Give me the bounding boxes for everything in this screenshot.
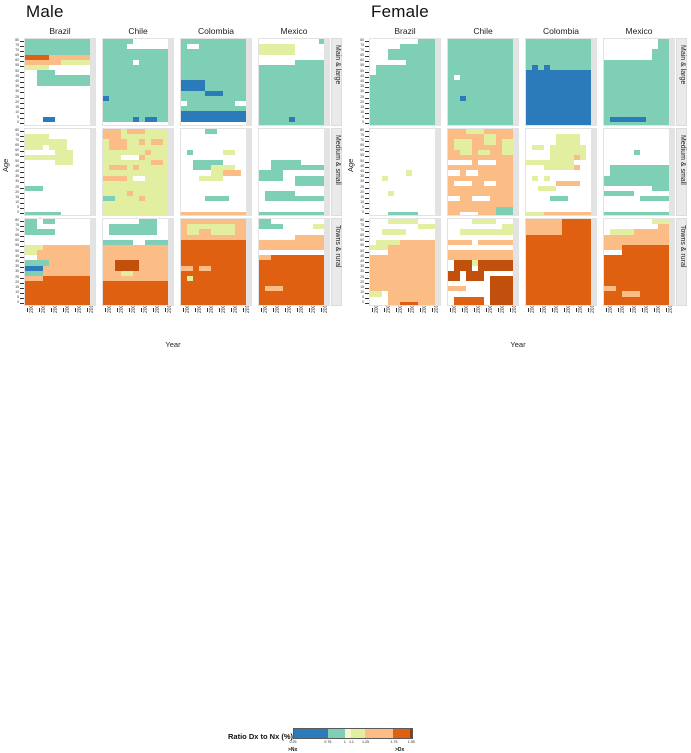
x-tick bbox=[552, 308, 553, 312]
country-heading-mexico: Mexico bbox=[603, 26, 675, 36]
legend-end-low: >Nx bbox=[288, 747, 297, 753]
panel-cells bbox=[25, 129, 95, 215]
heatmap-cell bbox=[532, 145, 544, 150]
heatmap-cell bbox=[484, 134, 496, 144]
heatmap-cell bbox=[466, 129, 484, 134]
heatmap-cell bbox=[460, 212, 478, 216]
heatmap-cell bbox=[382, 229, 406, 234]
heatmap-cell bbox=[526, 65, 532, 70]
heatmap-panel[interactable] bbox=[447, 38, 519, 126]
heatmap-cell bbox=[187, 276, 193, 281]
panel-cells bbox=[259, 219, 329, 305]
country-heading-mexico: Mexico bbox=[258, 26, 330, 36]
heatmap-cell bbox=[181, 122, 247, 126]
panel-gutter bbox=[591, 219, 596, 305]
heatmap-cell bbox=[265, 191, 295, 201]
heatmap-cell bbox=[604, 255, 622, 306]
y-axis-2: 05101520253035404550556065707580 bbox=[347, 218, 369, 306]
x-axis-colombia: 200020022004200620082010 bbox=[525, 308, 591, 330]
y-tick-label: 30 bbox=[360, 270, 364, 273]
heatmap-panel[interactable] bbox=[447, 128, 519, 216]
heatmap-cell bbox=[103, 129, 121, 139]
y-tick-label: 40 bbox=[15, 260, 19, 263]
y-tick-label: 45 bbox=[360, 75, 364, 78]
heatmap-cell bbox=[448, 240, 472, 245]
y-tick-label: 35 bbox=[15, 175, 19, 178]
y-tick-label: 25 bbox=[360, 276, 364, 279]
heatmap-cell bbox=[109, 229, 157, 234]
row-strip-label: Medium & small bbox=[679, 135, 686, 185]
country-heading-brazil: Brazil bbox=[24, 26, 96, 36]
heatmap-panel[interactable] bbox=[525, 218, 597, 306]
x-tick bbox=[183, 308, 184, 312]
heatmap-cell bbox=[25, 219, 37, 235]
row-strip-2: Towns & rural bbox=[676, 218, 687, 306]
x-tick bbox=[165, 308, 166, 312]
y-tick-label: 75 bbox=[360, 134, 364, 137]
heatmap-cell bbox=[472, 219, 496, 224]
y-tick-label: 80 bbox=[15, 39, 19, 42]
heatmap-panel[interactable] bbox=[525, 128, 597, 216]
heatmap-panel[interactable] bbox=[180, 38, 252, 126]
country-headings-male: BrazilChileColombiaMexico bbox=[24, 26, 330, 38]
y-tick-label: 60 bbox=[360, 59, 364, 62]
heatmap-cell bbox=[103, 196, 115, 201]
y-tick-label: 55 bbox=[15, 244, 19, 247]
y-tick-label: 75 bbox=[15, 44, 19, 47]
heatmap-cell bbox=[55, 150, 73, 166]
heatmap-cell bbox=[43, 219, 55, 224]
x-tick bbox=[153, 308, 154, 312]
panel-gutter bbox=[513, 219, 518, 305]
heatmap-cell bbox=[526, 70, 592, 126]
facet-title-male: Male bbox=[26, 2, 64, 22]
y-tick-label: 0 bbox=[17, 211, 19, 214]
heatmap-cell bbox=[610, 165, 670, 175]
y-tick-label: 25 bbox=[360, 96, 364, 99]
y-tick-label: 50 bbox=[15, 160, 19, 163]
heatmap-cell bbox=[370, 75, 436, 126]
x-tick bbox=[243, 308, 244, 312]
heatmap-cell bbox=[139, 155, 145, 160]
heatmap-cell bbox=[133, 176, 145, 181]
x-tick bbox=[450, 308, 451, 312]
heatmap-cell bbox=[139, 219, 157, 229]
y-tick-label: 10 bbox=[360, 111, 364, 114]
y-tick-label: 55 bbox=[360, 154, 364, 157]
panel-cells bbox=[604, 129, 674, 215]
heatmap-cell bbox=[121, 271, 133, 276]
heatmap-cell bbox=[544, 176, 550, 181]
x-tick bbox=[51, 308, 52, 312]
heatmap-cell bbox=[139, 196, 145, 201]
heatmap-panel[interactable] bbox=[258, 218, 330, 306]
heatmap-panel[interactable] bbox=[603, 218, 675, 306]
heatmap-cell bbox=[181, 240, 247, 306]
legend: Ratio Dx to Nx (%) 0.250.7511.11.251.751… bbox=[0, 360, 691, 401]
y-tick-label: 45 bbox=[360, 255, 364, 258]
heatmap-panel[interactable] bbox=[102, 218, 174, 306]
heatmap-panel[interactable] bbox=[369, 128, 441, 216]
heatmap-cell bbox=[532, 65, 538, 70]
panel-gutter bbox=[324, 129, 329, 215]
row-strip-2: Towns & rural bbox=[331, 218, 342, 306]
heatmap-cell bbox=[103, 245, 169, 261]
x-axis-mexico: 200020022004200620082010 bbox=[603, 308, 669, 330]
heatmap-cell bbox=[472, 260, 478, 265]
legend-swatch bbox=[328, 729, 345, 738]
heatmap-cell bbox=[103, 39, 133, 44]
heatmap-cell bbox=[103, 39, 169, 126]
panel-gutter bbox=[669, 129, 674, 215]
heatmap-cell bbox=[622, 245, 670, 306]
heatmap-cell bbox=[151, 160, 163, 165]
y-tick-label: 75 bbox=[15, 224, 19, 227]
heatmap-cell bbox=[448, 39, 514, 126]
row-strip-label: Towns & rural bbox=[679, 225, 686, 267]
heatmap-panel[interactable] bbox=[24, 218, 96, 306]
y-tick-label: 65 bbox=[15, 54, 19, 57]
y-tick-label: 70 bbox=[360, 229, 364, 232]
heatmap-cell bbox=[259, 212, 325, 216]
panel-cells bbox=[448, 129, 518, 215]
heatmap-cell bbox=[49, 139, 67, 149]
panel-cells bbox=[181, 129, 251, 215]
y-tick-label: 10 bbox=[15, 291, 19, 294]
y-tick-label: 55 bbox=[15, 64, 19, 67]
row-strip-label: Towns & rural bbox=[334, 225, 341, 267]
heatmap-cell bbox=[472, 196, 490, 201]
y-tick-label: 15 bbox=[360, 106, 364, 109]
heatmap-panel[interactable] bbox=[369, 38, 441, 126]
heatmap-cell bbox=[133, 60, 139, 65]
heatmap-cell bbox=[103, 271, 169, 281]
heatmap-cell bbox=[460, 150, 472, 155]
heatmap-cell bbox=[205, 91, 223, 96]
heatmap-cell bbox=[526, 235, 592, 306]
y-tick-label: 10 bbox=[15, 201, 19, 204]
x-tick bbox=[474, 308, 475, 312]
heatmap-cell bbox=[556, 181, 580, 186]
x-tick bbox=[462, 308, 463, 312]
heatmap-cell bbox=[25, 212, 61, 216]
heatmap-cell bbox=[454, 260, 472, 270]
y-tick-label: 40 bbox=[15, 170, 19, 173]
heatmap-panel[interactable] bbox=[24, 128, 96, 216]
y-tick-label: 0 bbox=[17, 121, 19, 124]
heatmap-panel[interactable] bbox=[258, 38, 330, 126]
panel-gutter bbox=[324, 219, 329, 305]
heatmap-cell bbox=[610, 117, 646, 122]
y-tick-label: 20 bbox=[15, 281, 19, 284]
heatmap-cell bbox=[193, 91, 205, 96]
heatmap-cell bbox=[604, 176, 670, 186]
country-heading-chile: Chile bbox=[447, 26, 519, 36]
y-tick-label: 0 bbox=[362, 211, 364, 214]
heatmap-cell bbox=[448, 196, 460, 201]
panel-gutter bbox=[513, 39, 518, 125]
y-tick-label: 5 bbox=[17, 116, 19, 119]
heatmap-cell bbox=[103, 260, 115, 270]
y-tick-label: 75 bbox=[15, 134, 19, 137]
panel-gutter bbox=[90, 129, 95, 215]
y-tick-label: 35 bbox=[360, 265, 364, 268]
heatmap-cell bbox=[448, 271, 460, 281]
panel-gutter bbox=[591, 129, 596, 215]
heatmap-cell bbox=[139, 139, 145, 144]
legend-color-bar bbox=[293, 728, 413, 739]
heatmap-panel[interactable] bbox=[24, 38, 96, 126]
heatmap-cell bbox=[448, 170, 460, 175]
x-axis-mexico: 200020022004200620082010 bbox=[258, 308, 324, 330]
heatmap-panel[interactable] bbox=[258, 128, 330, 216]
x-tick bbox=[588, 308, 589, 312]
legend-tick-label: 1.25 bbox=[362, 740, 369, 744]
panel-gutter bbox=[324, 39, 329, 125]
y-tick-label: 70 bbox=[15, 139, 19, 142]
y-tick-label: 75 bbox=[360, 224, 364, 227]
heatmap-cell bbox=[259, 170, 283, 180]
heatmap-cell bbox=[259, 44, 295, 54]
x-tick bbox=[231, 308, 232, 312]
heatmap-cell bbox=[454, 75, 460, 80]
heatmap-cell bbox=[181, 101, 187, 106]
heatmap-cell bbox=[634, 150, 640, 155]
heatmap-cell bbox=[295, 60, 325, 126]
panel-gutter bbox=[246, 219, 251, 305]
heatmap-cell bbox=[484, 181, 496, 186]
y-tick-label: 50 bbox=[15, 70, 19, 73]
y-tick-label: 15 bbox=[15, 106, 19, 109]
x-tick bbox=[486, 308, 487, 312]
heatmap-cell bbox=[295, 176, 325, 186]
heatmap-cell bbox=[133, 165, 139, 170]
y-tick-label: 5 bbox=[17, 296, 19, 299]
x-tick bbox=[384, 308, 385, 312]
panel-cells bbox=[370, 39, 440, 125]
heatmap-cell bbox=[127, 44, 169, 49]
y-tick-label: 35 bbox=[15, 85, 19, 88]
y-tick-label: 55 bbox=[15, 154, 19, 157]
x-tick bbox=[510, 308, 511, 312]
y-tick-label: 80 bbox=[360, 39, 364, 42]
heatmap-panel[interactable] bbox=[102, 38, 174, 126]
heatmap-cell bbox=[526, 160, 544, 165]
facet-group-female: Female Age Year BrazilChileColombiaMexic… bbox=[345, 0, 691, 360]
legend-swatch bbox=[294, 729, 328, 738]
y-tick-label: 65 bbox=[15, 144, 19, 147]
panel-cells bbox=[370, 129, 440, 215]
y-tick-label: 80 bbox=[15, 219, 19, 222]
panel-cells bbox=[526, 39, 596, 125]
legend-end-high: >Dx bbox=[395, 747, 404, 753]
y-tick-label: 45 bbox=[15, 165, 19, 168]
heatmap-cell bbox=[289, 117, 295, 122]
x-tick bbox=[39, 308, 40, 312]
panel-gutter bbox=[669, 39, 674, 125]
heatmap-cell bbox=[103, 281, 169, 306]
x-tick bbox=[432, 308, 433, 312]
legend-tick-label: 0.75 bbox=[324, 740, 331, 744]
heatmap-cell bbox=[187, 224, 235, 234]
y-tick-label: 25 bbox=[15, 96, 19, 99]
heatmap-cell bbox=[376, 65, 436, 75]
heatmap-cell bbox=[301, 165, 325, 170]
x-tick bbox=[219, 308, 220, 312]
heatmap-cell bbox=[271, 160, 301, 170]
legend-tick-label: 0.25 bbox=[290, 740, 297, 744]
x-tick bbox=[528, 308, 529, 312]
y-tick-label: 50 bbox=[15, 250, 19, 253]
heatmap-cell bbox=[25, 145, 43, 150]
heatmap-cell bbox=[448, 160, 472, 165]
y-tick-label: 35 bbox=[360, 85, 364, 88]
y-tick-label: 75 bbox=[360, 44, 364, 47]
heatmap-cell bbox=[187, 150, 193, 155]
heatmap-cell bbox=[388, 49, 436, 59]
heatmap-cell bbox=[181, 80, 205, 90]
heatmap-cell bbox=[460, 96, 466, 101]
y-tick-label: 20 bbox=[360, 191, 364, 194]
panel-gutter bbox=[435, 219, 440, 305]
heatmap-cell bbox=[37, 229, 55, 234]
x-tick bbox=[309, 308, 310, 312]
facet-group-male: Male Age Year BrazilChileColombiaMexico … bbox=[0, 0, 346, 360]
y-tick-label: 15 bbox=[360, 286, 364, 289]
x-tick bbox=[117, 308, 118, 312]
y-axis-0: 05101520253035404550556065707580 bbox=[347, 38, 369, 126]
y-tick-label: 60 bbox=[360, 149, 364, 152]
y-tick-label: 50 bbox=[360, 70, 364, 73]
heatmap-panel[interactable] bbox=[369, 218, 441, 306]
y-tick-label: 10 bbox=[15, 111, 19, 114]
heatmap-cell bbox=[199, 229, 211, 234]
x-tick bbox=[618, 308, 619, 312]
y-tick-label: 80 bbox=[15, 129, 19, 132]
heatmap-panel[interactable] bbox=[603, 38, 675, 126]
heatmap-cell bbox=[544, 160, 574, 170]
y-tick-label: 25 bbox=[15, 186, 19, 189]
heatmap-cell bbox=[205, 196, 229, 201]
heatmap-panel[interactable] bbox=[180, 128, 252, 216]
heatmap-cell bbox=[550, 196, 568, 201]
legend-tick-label: 1.75 bbox=[391, 740, 398, 744]
x-tick bbox=[27, 308, 28, 312]
heatmap-cell bbox=[652, 186, 670, 191]
heatmap-panel[interactable] bbox=[180, 218, 252, 306]
heatmap-cell bbox=[466, 170, 478, 175]
panel-gutter bbox=[90, 39, 95, 125]
y-tick-label: 35 bbox=[360, 175, 364, 178]
x-tick bbox=[63, 308, 64, 312]
y-tick-label: 0 bbox=[362, 121, 364, 124]
legend-swatch bbox=[393, 729, 410, 738]
x-axis-chile: 200020022004200620082010 bbox=[102, 308, 168, 330]
y-tick-label: 15 bbox=[15, 196, 19, 199]
panel-cells bbox=[259, 39, 329, 125]
heatmap-cell bbox=[295, 196, 325, 201]
y-tick-label: 65 bbox=[360, 144, 364, 147]
y-tick-label: 70 bbox=[15, 229, 19, 232]
legend-tick-label: 1.95 bbox=[408, 740, 415, 744]
heatmap-cell bbox=[127, 129, 145, 134]
legend-swatch bbox=[365, 729, 393, 738]
x-tick bbox=[630, 308, 631, 312]
y-tick-label: 25 bbox=[15, 276, 19, 279]
y-tick-label: 60 bbox=[360, 239, 364, 242]
panel-gutter bbox=[591, 39, 596, 125]
x-tick bbox=[87, 308, 88, 312]
y-tick-label: 30 bbox=[15, 270, 19, 273]
heatmap-cell bbox=[37, 250, 91, 260]
y-tick-label: 5 bbox=[17, 206, 19, 209]
panel-cells bbox=[25, 39, 95, 125]
heatmap-cell bbox=[448, 250, 514, 260]
y-tick-label: 45 bbox=[15, 75, 19, 78]
panel-cells bbox=[103, 219, 173, 305]
country-heading-colombia: Colombia bbox=[180, 26, 252, 36]
heatmap-cell bbox=[25, 134, 49, 144]
panel-cells bbox=[526, 219, 596, 305]
x-tick bbox=[420, 308, 421, 312]
row-strip-label: Main & large bbox=[334, 45, 341, 84]
heatmap-panel[interactable] bbox=[525, 38, 597, 126]
heatmap-cell bbox=[145, 150, 151, 155]
y-tick-label: 60 bbox=[15, 59, 19, 62]
heatmap-cell bbox=[109, 165, 127, 170]
heatmap-panel[interactable] bbox=[447, 218, 519, 306]
x-tick bbox=[273, 308, 274, 312]
y-tick-label: 30 bbox=[360, 180, 364, 183]
x-tick bbox=[498, 308, 499, 312]
x-tick bbox=[297, 308, 298, 312]
heatmap-cell bbox=[271, 224, 283, 229]
x-tick bbox=[654, 308, 655, 312]
heatmap-cell bbox=[604, 191, 634, 196]
y-tick-label: 50 bbox=[360, 160, 364, 163]
heatmap-cell bbox=[223, 150, 235, 155]
heatmap-cell bbox=[604, 235, 670, 245]
y-axis-1: 05101520253035404550556065707580 bbox=[347, 128, 369, 216]
heatmap-cell bbox=[400, 302, 418, 306]
y-tick-label: 60 bbox=[15, 149, 19, 152]
heatmap-cell bbox=[199, 266, 211, 271]
row-strip-0: Main & large bbox=[676, 38, 687, 126]
heatmap-cell bbox=[478, 260, 514, 270]
y-tick-label: 5 bbox=[362, 116, 364, 119]
x-tick bbox=[261, 308, 262, 312]
legend-swatch bbox=[351, 729, 365, 738]
heatmap-cell bbox=[604, 212, 670, 216]
heatmap-cell bbox=[538, 186, 556, 191]
heatmap-cell bbox=[490, 276, 514, 306]
x-tick bbox=[129, 308, 130, 312]
heatmap-panel[interactable] bbox=[102, 128, 174, 216]
x-tick bbox=[576, 308, 577, 312]
panel-cells bbox=[103, 39, 173, 125]
x-tick bbox=[564, 308, 565, 312]
heatmap-panel[interactable] bbox=[603, 128, 675, 216]
x-tick bbox=[540, 308, 541, 312]
heatmap-cell bbox=[466, 271, 484, 281]
heatmap-cell bbox=[418, 224, 436, 229]
heatmap-cell bbox=[604, 286, 616, 291]
heatmap-cell bbox=[388, 212, 418, 216]
heatmap-cell bbox=[550, 145, 586, 161]
heatmap-cell bbox=[127, 191, 133, 196]
x-tick bbox=[195, 308, 196, 312]
panel-gutter bbox=[168, 39, 173, 125]
